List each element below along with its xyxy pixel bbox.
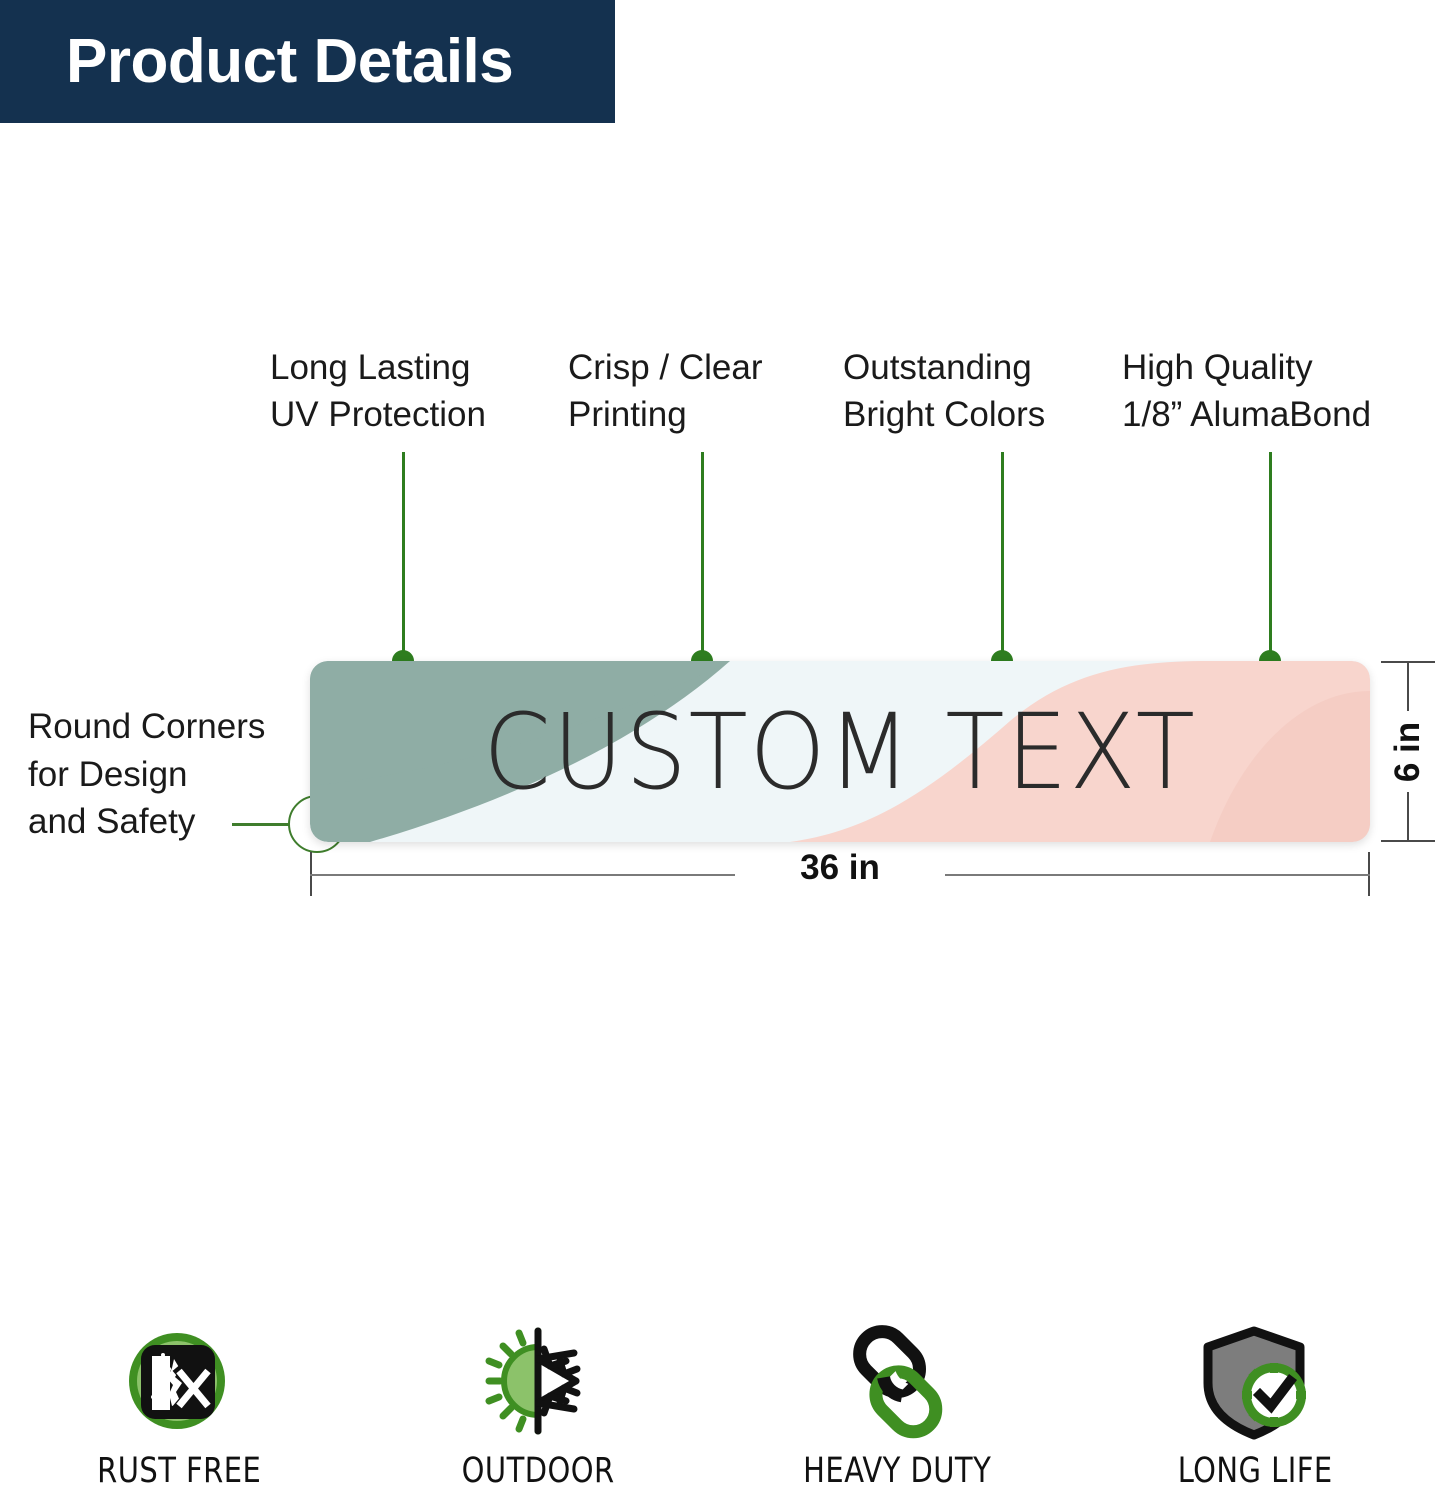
product-details-infographic: Product Details Long Lasting UV Protecti… [0,0,1435,1500]
dimension-height: 6 in [1381,661,1435,842]
page-title: Product Details [66,31,513,93]
feature-heavy-duty: HEAVY DUTY [718,1325,1077,1500]
header-banner: Product Details [0,0,615,123]
callout-line-1: Crisp / Clear [568,345,762,392]
feature-label: OUTDOOR [462,1451,615,1491]
callout-label-uv-protection: Long Lasting UV Protection [270,345,486,438]
round-corners-line-2: for Design [28,751,265,799]
round-corners-line-3: and Safety [28,798,265,846]
callout-line-1: Long Lasting [270,345,486,392]
dim-stem-upper [1407,661,1409,711]
callout-line-2: Bright Colors [843,392,1045,439]
feature-long-life: LONG LIFE [1076,1325,1435,1500]
feature-label: RUST FREE [97,1451,261,1491]
leader-line-crisp-printing [701,452,704,662]
leader-line-round-corners [232,823,290,826]
shield-clock-icon [1196,1325,1316,1443]
feature-icon-row: RUST FREE [0,1325,1435,1500]
dimension-height-label: 6 in [1373,722,1435,782]
callout-line-2: Printing [568,392,762,439]
rust-free-icon [119,1325,239,1443]
callout-line-2: UV Protection [270,392,486,439]
sun-snowflake-icon [478,1325,598,1443]
dimension-width-label: 36 in [310,848,1370,888]
feature-rust-free: RUST FREE [0,1325,359,1500]
feature-label: LONG LIFE [1178,1451,1333,1491]
callout-label-alumabond: High Quality 1/8” AlumaBond [1122,345,1371,438]
callout-label-round-corners: Round Corners for Design and Safety [28,703,265,846]
leader-line-bright-colors [1001,452,1004,662]
leader-line-alumabond [1269,452,1272,662]
callout-line-1: High Quality [1122,345,1371,392]
leader-line-uv-protection [402,452,405,662]
feature-outdoor: OUTDOOR [359,1325,718,1500]
sign-preview: CUSTOM TEXT [310,661,1370,842]
callout-line-1: Outstanding [843,345,1045,392]
sign-text: CUSTOM TEXT [347,661,1333,842]
round-corners-line-1: Round Corners [28,703,265,751]
callout-label-bright-colors: Outstanding Bright Colors [843,345,1045,438]
sign-panel: CUSTOM TEXT [310,661,1370,842]
chain-link-icon [837,1325,957,1443]
callout-label-crisp-printing: Crisp / Clear Printing [568,345,762,438]
dim-stem-lower [1407,792,1409,842]
callout-line-2: 1/8” AlumaBond [1122,392,1371,439]
dimension-width: 36 in [310,852,1370,896]
feature-label: HEAVY DUTY [803,1451,991,1491]
